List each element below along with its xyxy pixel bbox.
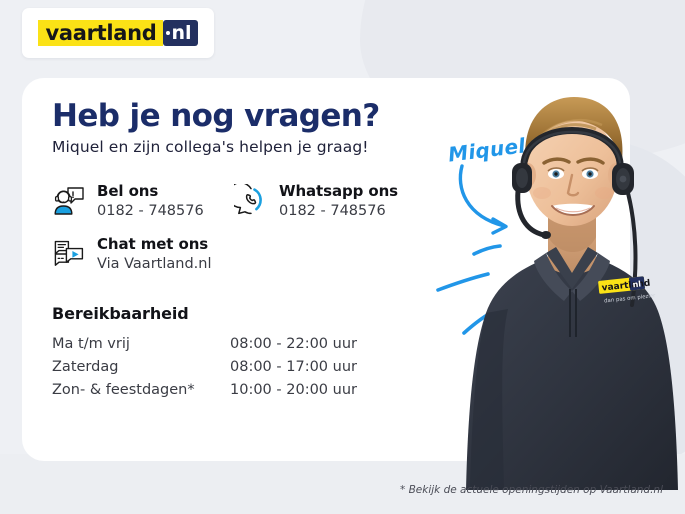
footnote-opening-hours: * Bekijk de actuele openingstijden op Va… bbox=[400, 484, 663, 496]
hours-day-weekdays: Ma t/m vrij bbox=[52, 333, 230, 356]
contact-call-text: Bel ons 0182 - 748576 bbox=[97, 182, 204, 221]
table-row: Zaterdag 08:00 - 17:00 uur bbox=[52, 356, 357, 379]
hours-time-weekdays: 08:00 - 22:00 uur bbox=[230, 333, 357, 356]
agent-photo-area: Miquel bbox=[430, 60, 685, 485]
contact-item-whatsapp[interactable]: Whatsapp ons 0182 - 748576 bbox=[234, 182, 416, 221]
table-row: Ma t/m vrij 08:00 - 22:00 uur bbox=[52, 333, 357, 356]
contact-chat-text: Chat met ons Via Vaartland.nl bbox=[97, 235, 211, 274]
contact-methods: Bel ons 0182 - 748576 Whatsapp ons 0182 … bbox=[52, 182, 452, 274]
logo-lockup: vaartland nl bbox=[38, 20, 197, 46]
svg-text:nl: nl bbox=[632, 280, 642, 290]
logo-tld-label: nl bbox=[172, 20, 192, 46]
hours-time-sunday-holidays: 10:00 - 20:00 uur bbox=[230, 379, 357, 402]
agent-portrait-photo: vaartland nl dan pas om plezier bbox=[460, 75, 685, 490]
opening-hours-table: Ma t/m vrij 08:00 - 22:00 uur Zaterdag 0… bbox=[52, 333, 357, 402]
chat-bubbles-icon bbox=[52, 237, 86, 271]
logo-dot-icon bbox=[166, 31, 170, 35]
hours-day-saturday: Zaterdag bbox=[52, 356, 230, 379]
hours-day-sunday-holidays: Zon- & feestdagen* bbox=[52, 379, 230, 402]
contact-whatsapp-text: Whatsapp ons 0182 - 748576 bbox=[279, 182, 398, 221]
card-content: Heb je nog vragen? Miquel en zijn colleg… bbox=[52, 98, 452, 402]
hours-title: Bereikbaarheid bbox=[52, 304, 452, 323]
vaartland-logo[interactable]: vaartland nl bbox=[22, 8, 214, 58]
contact-whatsapp-title: Whatsapp ons bbox=[279, 182, 398, 201]
contact-item-call[interactable]: Bel ons 0182 - 748576 bbox=[52, 182, 234, 221]
contact-chat-title: Chat met ons bbox=[97, 235, 211, 254]
contact-item-chat[interactable]: Chat met ons Via Vaartland.nl bbox=[52, 235, 234, 274]
contact-call-title: Bel ons bbox=[97, 182, 204, 201]
hours-time-saturday: 08:00 - 17:00 uur bbox=[230, 356, 357, 379]
table-row: Zon- & feestdagen* 10:00 - 20:00 uur bbox=[52, 379, 357, 402]
logo-wordmark: vaartland bbox=[38, 20, 162, 46]
contact-whatsapp-value: 0182 - 748576 bbox=[279, 201, 398, 221]
contact-chat-value: Via Vaartland.nl bbox=[97, 254, 211, 274]
logo-tld-badge: nl bbox=[163, 20, 198, 46]
page-subtitle: Miquel en zijn collega's helpen je graag… bbox=[52, 138, 452, 156]
headset-person-speech-bubble-icon bbox=[52, 184, 86, 218]
whatsapp-icon bbox=[234, 184, 268, 218]
contact-call-value: 0182 - 748576 bbox=[97, 201, 204, 221]
page-title: Heb je nog vragen? bbox=[52, 98, 452, 134]
